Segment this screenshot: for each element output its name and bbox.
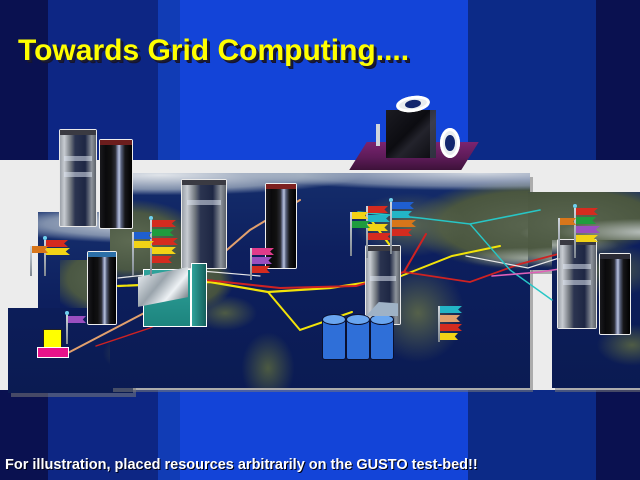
flag bbox=[152, 220, 176, 227]
satellite-antenna bbox=[376, 124, 380, 146]
flag bbox=[392, 211, 412, 218]
flag bbox=[68, 316, 86, 323]
flag bbox=[576, 208, 598, 215]
flag bbox=[152, 247, 176, 254]
flag bbox=[392, 220, 416, 227]
flag-pole bbox=[574, 208, 576, 258]
monitor-base bbox=[38, 348, 68, 357]
rack-slot bbox=[187, 200, 220, 205]
flag-cluster-us-central bbox=[122, 214, 202, 280]
flag bbox=[368, 215, 390, 222]
flag-pole bbox=[150, 220, 152, 276]
flag-pole bbox=[390, 202, 392, 254]
flag-cluster-west-coast bbox=[26, 232, 82, 278]
flag bbox=[576, 226, 600, 233]
flag-cluster-us-east bbox=[238, 244, 286, 284]
disk-cylinder bbox=[346, 318, 370, 360]
flag-cluster-europe bbox=[346, 202, 436, 262]
flag bbox=[440, 306, 462, 313]
flag-pole bbox=[350, 212, 352, 256]
flag-cluster-pacific bbox=[426, 302, 476, 346]
flag-pole bbox=[132, 232, 134, 276]
disk-cylinder bbox=[322, 318, 346, 360]
satellite-compute-node bbox=[352, 102, 482, 182]
satellite-cube-server bbox=[386, 110, 436, 158]
flag bbox=[152, 256, 172, 263]
rack-top-cap bbox=[88, 252, 116, 257]
flag bbox=[368, 206, 388, 213]
rack-top-cap bbox=[266, 184, 296, 189]
flag-pole bbox=[438, 306, 440, 342]
flag bbox=[368, 233, 392, 240]
rack-top-cap bbox=[60, 130, 96, 135]
slide-caption: For illustration, placed resources arbit… bbox=[5, 457, 478, 473]
rack-top-cap bbox=[182, 180, 226, 185]
flag bbox=[440, 333, 458, 340]
disk-cylinder bbox=[370, 318, 394, 360]
rack-na-black-2 bbox=[88, 252, 116, 324]
rack-asia-black bbox=[600, 254, 630, 334]
satellite-dish-side-icon bbox=[440, 128, 460, 158]
flag bbox=[392, 202, 414, 209]
flag bbox=[440, 324, 462, 331]
flag bbox=[252, 266, 270, 273]
flag bbox=[368, 224, 388, 231]
rack-slot bbox=[370, 276, 396, 281]
flag bbox=[252, 257, 272, 264]
flag-cluster-asia bbox=[550, 204, 630, 262]
flag-pole bbox=[44, 240, 46, 276]
flag bbox=[152, 229, 174, 236]
flag bbox=[252, 248, 274, 255]
flag-knob-icon bbox=[43, 236, 47, 240]
flag-knob-icon bbox=[389, 198, 393, 202]
rack-slot bbox=[64, 156, 91, 161]
flag bbox=[576, 217, 596, 224]
flag-pole bbox=[30, 246, 32, 276]
slide-canvas: Towards Grid Computing.... bbox=[0, 0, 640, 480]
flag-pole bbox=[250, 248, 252, 280]
flag-knob-icon bbox=[149, 216, 153, 220]
rack-top-cap bbox=[100, 140, 132, 145]
flag bbox=[46, 240, 68, 247]
flag-cluster-australia bbox=[58, 312, 90, 346]
flag bbox=[440, 315, 460, 322]
gusto-test-bed-map bbox=[0, 160, 640, 390]
flag-knob-icon bbox=[573, 204, 577, 208]
flag-pole bbox=[66, 314, 68, 344]
flag bbox=[46, 248, 70, 255]
flag bbox=[392, 229, 412, 236]
flag-knob-icon bbox=[65, 311, 69, 315]
flag-pole bbox=[558, 218, 560, 258]
disk-array-cluster bbox=[322, 318, 394, 360]
page-title: Towards Grid Computing.... bbox=[18, 34, 409, 68]
flag bbox=[152, 238, 178, 245]
rack-slot bbox=[563, 264, 592, 269]
rack-na-gray bbox=[60, 130, 96, 226]
rack-slot bbox=[563, 280, 592, 285]
rack-slot bbox=[64, 172, 91, 177]
flag bbox=[576, 235, 598, 242]
